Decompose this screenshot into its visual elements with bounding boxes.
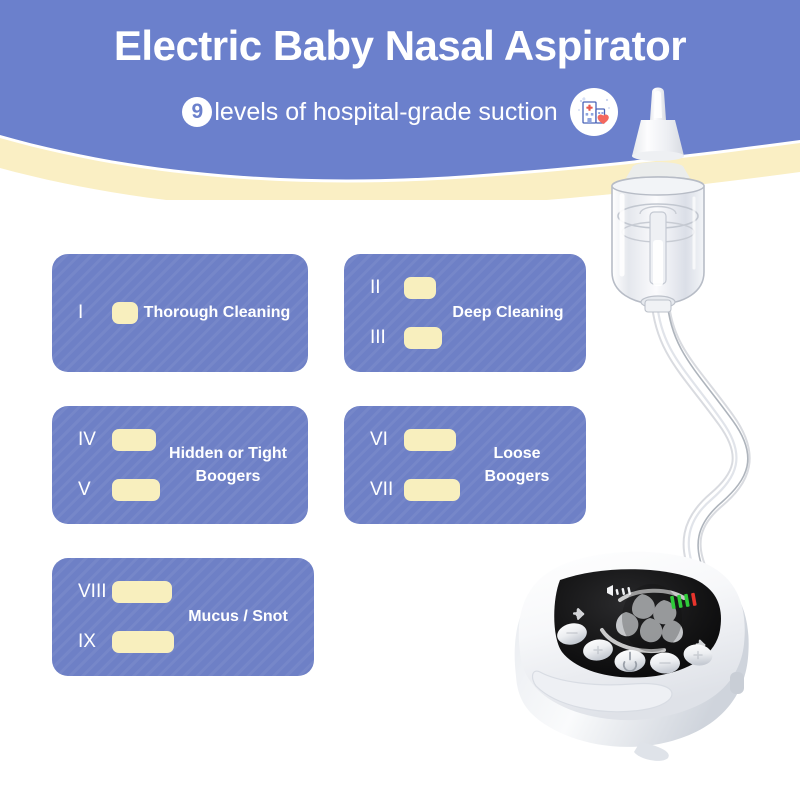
level-numeral: I <box>78 302 112 324</box>
levels-column: IV V <box>52 429 160 501</box>
level-row: VII <box>370 479 460 501</box>
level-card-loose-boogers[interactable]: VI VII Loose Boogers <box>344 406 586 524</box>
level-numeral: III <box>370 327 404 349</box>
level-bar <box>404 479 460 501</box>
level-row: VIII <box>78 581 174 603</box>
level-bar <box>404 429 456 451</box>
card-label: Mucus / Snot <box>174 605 314 628</box>
level-bar <box>404 327 442 349</box>
level-card-deep-cleaning[interactable]: II III Deep Cleaning <box>344 254 586 372</box>
level-row: I <box>78 302 138 324</box>
level-numeral: VI <box>370 429 404 451</box>
level-row: VI <box>370 429 460 451</box>
level-numeral: V <box>78 479 112 501</box>
level-card-hidden-tight-boogers[interactable]: IV V Hidden or Tight Boogers <box>52 406 308 524</box>
card-label: Hidden or Tight Boogers <box>160 442 308 488</box>
level-numeral: VII <box>370 479 404 501</box>
level-bar <box>112 631 174 653</box>
level-card-mucus-snot[interactable]: VIII IX Mucus / Snot <box>52 558 314 676</box>
card-label: Thorough Cleaning <box>138 301 308 324</box>
level-card-thorough-cleaning[interactable]: I Thorough Cleaning <box>52 254 308 372</box>
level-bar <box>112 302 138 324</box>
levels-column: VIII IX <box>52 581 174 653</box>
card-label: Deep Cleaning <box>442 301 586 324</box>
card-label: Loose Boogers <box>460 442 586 488</box>
level-bar <box>112 429 156 451</box>
level-bar <box>112 479 160 501</box>
level-bar <box>112 581 172 603</box>
level-bar <box>404 277 436 299</box>
level-row: IV <box>78 429 160 451</box>
level-row: III <box>370 327 442 349</box>
level-numeral: IV <box>78 429 112 451</box>
level-row: IX <box>78 631 174 653</box>
level-numeral: IX <box>78 631 112 653</box>
levels-column: I <box>52 302 138 324</box>
level-numeral: VIII <box>78 581 112 603</box>
levels-column: VI VII <box>344 429 460 501</box>
level-row: II <box>370 277 442 299</box>
levels-column: II III <box>344 277 442 349</box>
level-numeral: II <box>370 277 404 299</box>
level-row: V <box>78 479 160 501</box>
